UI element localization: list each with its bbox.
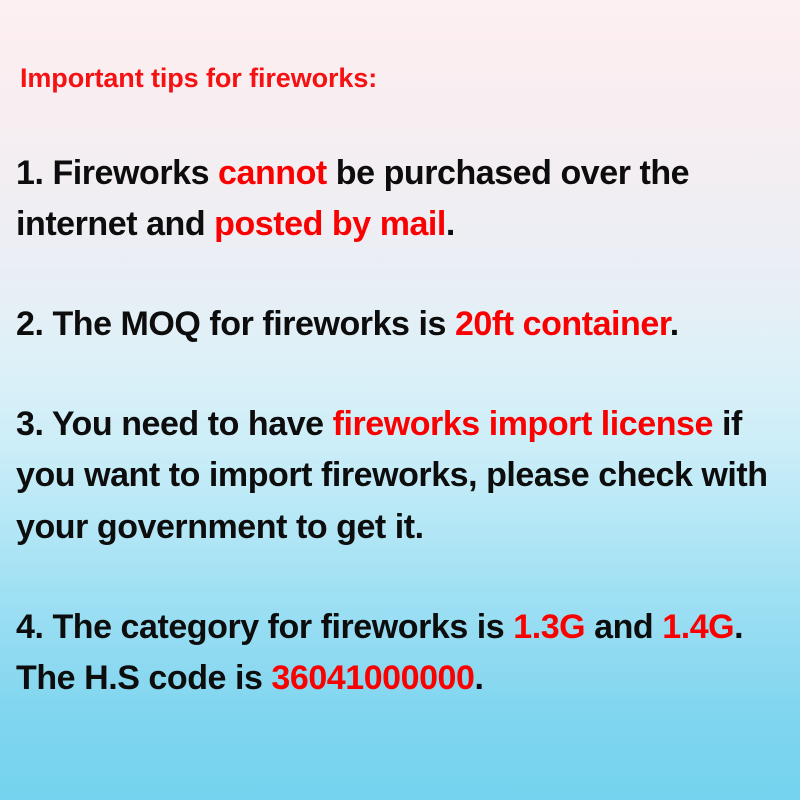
tip-highlight: fireworks import license [333, 405, 713, 443]
tip-highlight: 1.4G [662, 608, 734, 646]
tip-highlight: cannot [218, 154, 327, 192]
tip-highlight: 1.3G [513, 608, 585, 646]
tip-segment: . [446, 205, 455, 243]
tip-highlight: 36041000000 [271, 659, 474, 697]
tip-highlight: posted by mail [214, 205, 446, 243]
page-title: Important tips for fireworks: [20, 62, 778, 96]
tip-highlight: 20ft container [455, 305, 670, 343]
tip-segment: The category for fireworks is [43, 608, 513, 646]
tip-segment: You need to have [43, 405, 332, 443]
tip-item-4: 4. The category for fireworks is 1.3G an… [16, 602, 778, 705]
tip-number-1: 1. [16, 154, 43, 192]
tip-item-1: 1. Fireworks cannot be purchased over th… [16, 148, 778, 251]
tip-number-3: 3. [16, 405, 43, 443]
tip-number-2: 2. [16, 305, 43, 343]
tip-segment: and [585, 608, 662, 646]
tip-segment: . [670, 305, 679, 343]
poster-content: Important tips for fireworks: 1. Firewor… [16, 62, 778, 705]
tip-segment: The MOQ for fireworks is [43, 305, 455, 343]
fireworks-tips-poster: Important tips for fireworks: 1. Firewor… [0, 0, 800, 800]
tip-segment: Fireworks [43, 154, 218, 192]
tip-item-2: 2. The MOQ for fireworks is 20ft contain… [16, 299, 778, 351]
tip-segment: . [474, 659, 483, 697]
tip-number-4: 4. [16, 608, 43, 646]
tip-item-3: 3. You need to have fireworks import lic… [16, 399, 778, 554]
